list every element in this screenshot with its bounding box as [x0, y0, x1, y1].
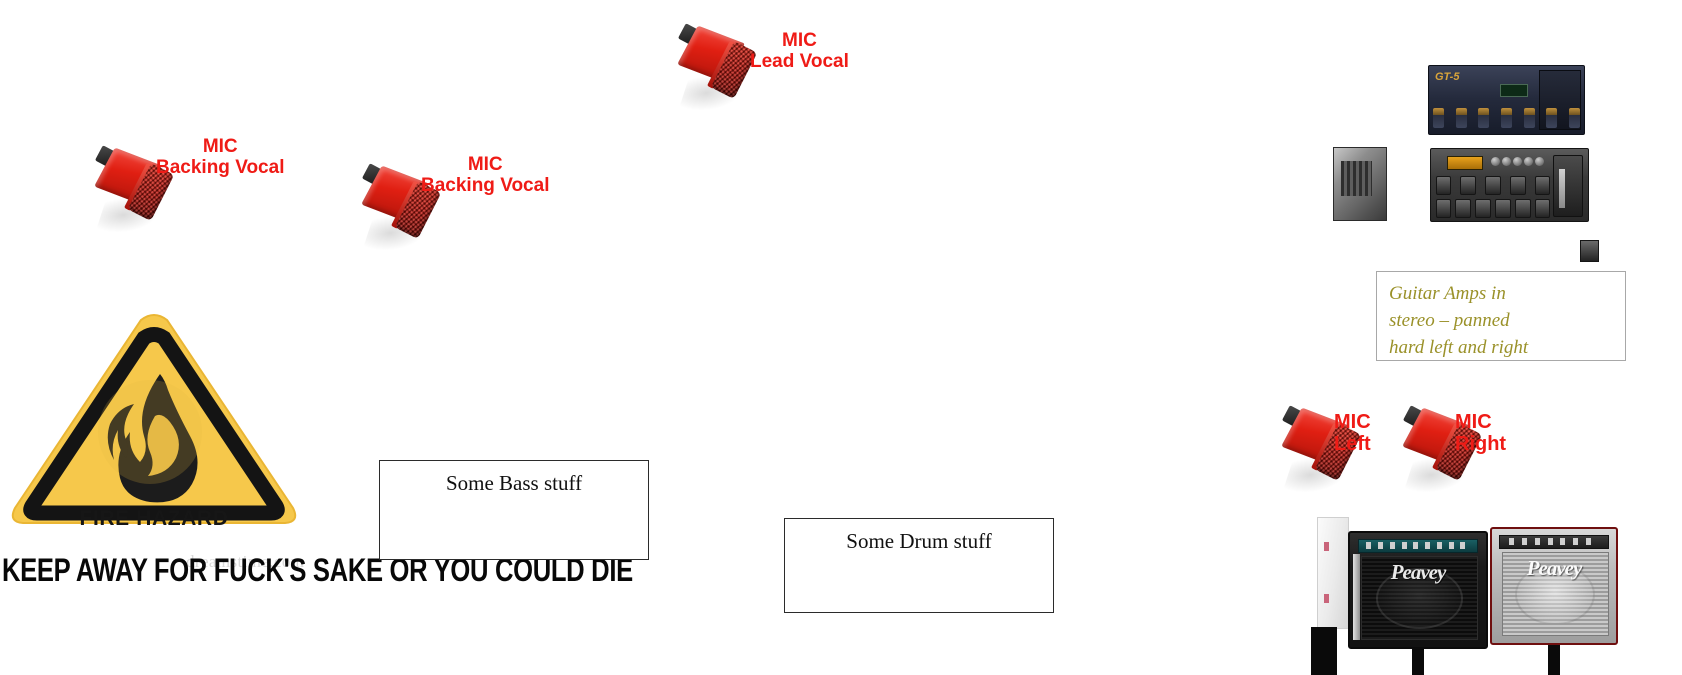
pedalboard-footswitch — [1460, 176, 1476, 195]
small-rack-panel — [1333, 147, 1387, 221]
pedalboard-footswitch — [1495, 199, 1511, 218]
amp-control-panel — [1499, 535, 1608, 550]
amp-knob — [1560, 538, 1565, 545]
stage-plot-canvas: MIC Backing Vocal MIC Backing Vocal MIC … — [0, 0, 1682, 675]
amp-side-rail — [1353, 554, 1360, 641]
rack-slider — [1478, 108, 1489, 128]
rack-slider — [1569, 108, 1580, 128]
amp-control-panel — [1358, 539, 1478, 554]
amp-knob — [1586, 538, 1591, 545]
rack-slider — [1501, 108, 1512, 128]
cabinet-indicator — [1324, 594, 1329, 603]
white-speaker-cabinet — [1317, 517, 1349, 629]
pedalboard-expression-pedal — [1553, 155, 1583, 217]
mic-backing-vocal-2-label: MIC Backing Vocal — [421, 154, 549, 197]
guitar-amp-note-box: Guitar Amps in stereo – panned hard left… — [1376, 271, 1626, 361]
pedalboard-footswitch — [1436, 199, 1452, 218]
pedalboard-footswitch — [1510, 176, 1526, 195]
amp-brand-logo: Peavey — [1492, 556, 1616, 581]
amp-cabinet: Peavey — [1348, 531, 1488, 649]
amp-knob — [1548, 538, 1553, 545]
rack-slider-row — [1433, 108, 1580, 130]
mic-lead-vocal-label: MIC Lead Vocal — [750, 30, 849, 73]
mic-backing-vocal-1-label: MIC Backing Vocal — [156, 136, 284, 179]
rack-slider — [1433, 108, 1444, 128]
amp-right-stand — [1548, 645, 1560, 675]
pedalboard-footswitch-row — [1436, 176, 1551, 195]
mic-amp-left-label: MIC Left — [1334, 411, 1371, 456]
pedalboard-footswitch — [1436, 176, 1452, 195]
rack-effects-unit: GT-5 — [1428, 65, 1585, 135]
amp-knob — [1402, 542, 1407, 549]
drum-stuff-box: Some Drum stuff — [784, 518, 1054, 613]
rack-slider — [1524, 108, 1535, 128]
pedalboard-display — [1447, 156, 1484, 170]
multi-effects-pedalboard — [1430, 148, 1589, 222]
pedalboard-footswitch — [1535, 199, 1551, 218]
pedalboard-footswitch — [1455, 199, 1471, 218]
bass-stuff-box: Some Bass stuff — [379, 460, 649, 560]
amp-knob — [1437, 542, 1442, 549]
amp-knob — [1509, 538, 1514, 545]
rack-display — [1500, 84, 1528, 97]
fire-hazard-caption: FIRE HAZARD — [10, 507, 298, 531]
pedalboard-knob — [1491, 157, 1500, 166]
pedalboard-knob — [1502, 157, 1511, 166]
pedalboard-footswitch — [1475, 199, 1491, 218]
tiny-module — [1580, 240, 1599, 262]
amp-right: Peavey — [1490, 527, 1618, 645]
pedalboard-knob — [1535, 157, 1544, 166]
amp-cabinet: Peavey — [1490, 527, 1618, 645]
pedalboard-footswitch — [1515, 199, 1531, 218]
rack-brand-label: GT-5 — [1435, 71, 1459, 83]
pedalboard-footswitch — [1485, 176, 1501, 195]
amp-knob — [1366, 542, 1371, 549]
pedalboard-knob-row — [1491, 155, 1544, 169]
pedalboard-footswitch-row — [1436, 199, 1551, 218]
amp-knob — [1413, 542, 1418, 549]
fire-hazard-triangle-icon — [10, 312, 298, 527]
rack-slider — [1546, 108, 1557, 128]
amp-knob — [1535, 538, 1540, 545]
amp-knob — [1425, 542, 1430, 549]
amp-knob — [1390, 542, 1395, 549]
pedalboard-footswitch — [1535, 176, 1551, 195]
white-cabinet-foot — [1311, 627, 1337, 675]
amp-left-stand — [1412, 649, 1424, 675]
amp-knob — [1573, 538, 1578, 545]
mic-amp-right-label: MIC Right — [1455, 411, 1506, 456]
amp-left: Peavey — [1348, 531, 1488, 649]
cabinet-indicator — [1324, 542, 1329, 551]
amp-knob — [1449, 542, 1454, 549]
pedalboard-knob — [1513, 157, 1522, 166]
rack-slider — [1456, 108, 1467, 128]
pedalboard-knob — [1524, 157, 1533, 166]
mic-lead-vocal-icon — [678, 18, 756, 118]
amp-knob — [1522, 538, 1527, 545]
amp-brand-logo: Peavey — [1350, 560, 1486, 585]
amp-knob — [1460, 542, 1465, 549]
amp-knob — [1378, 542, 1383, 549]
